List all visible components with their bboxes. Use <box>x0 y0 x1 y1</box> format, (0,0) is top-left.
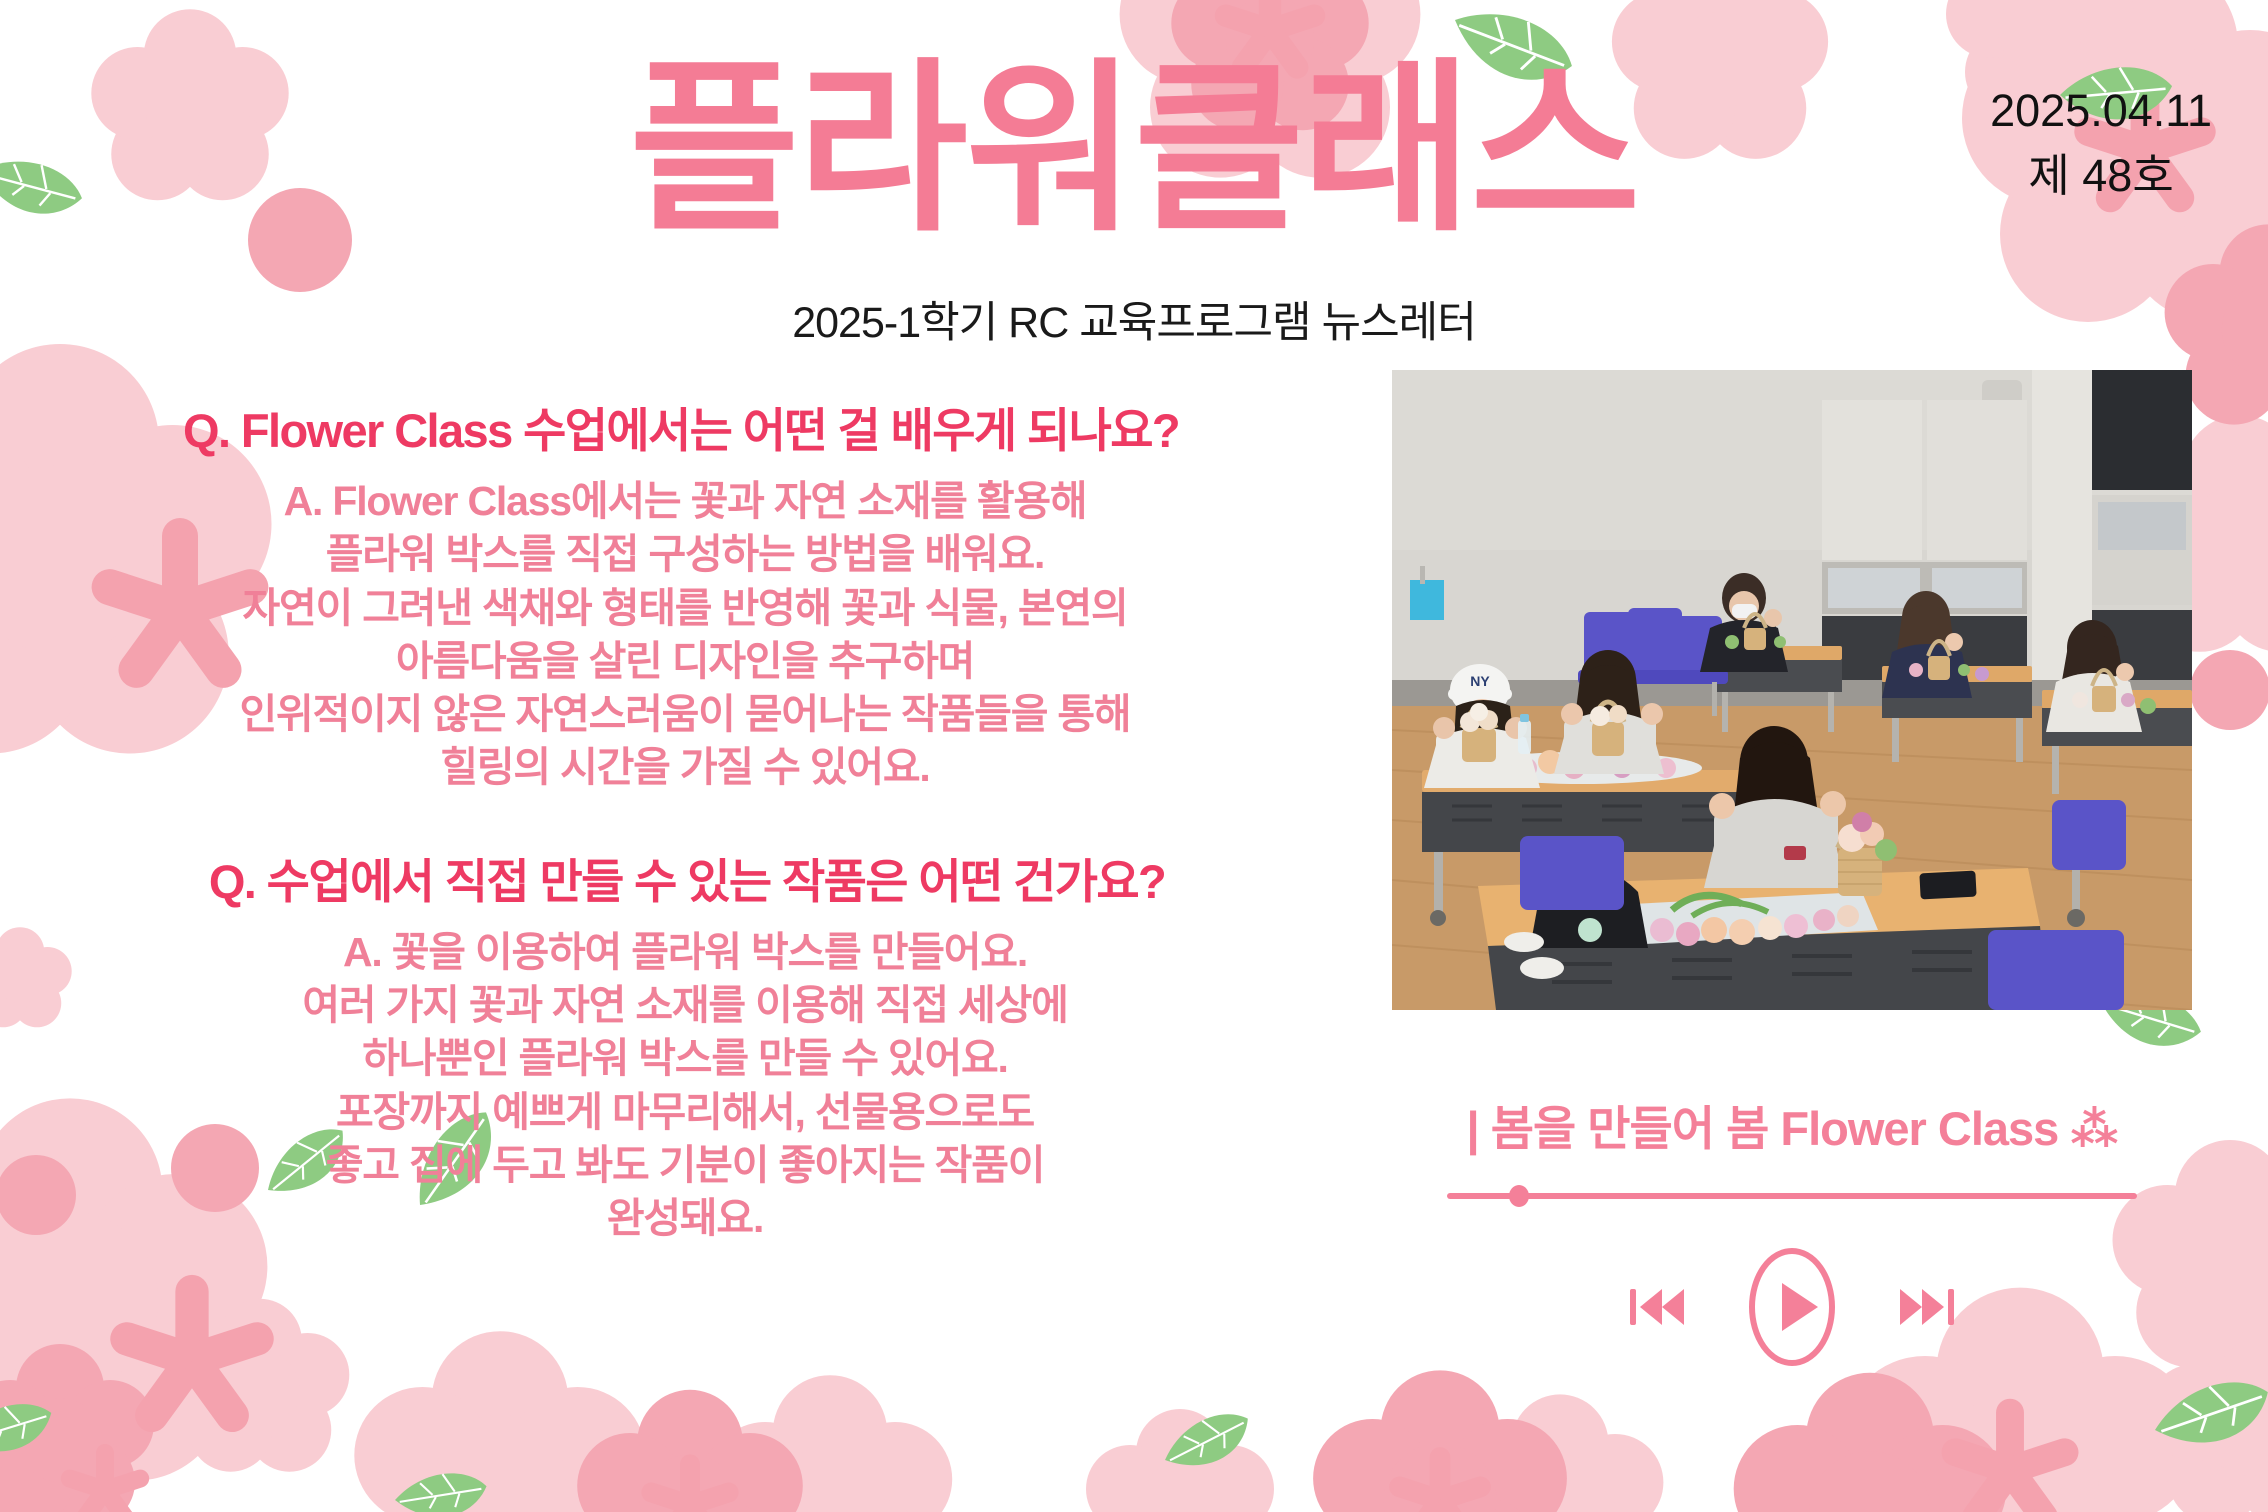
answer-2-line: 여러 가지 꽃과 자연 소재를 이용해 직접 세상에 <box>0 979 1370 1032</box>
answer-1: A. Flower Class에서는 꽃과 자연 소재를 활용해 플라워 박스를… <box>0 475 1370 795</box>
answer-2-line: 좋고 집에 두고 봐도 기분이 좋아지는 작품이 <box>0 1139 1370 1192</box>
page-subtitle: 2025-1학기 RC 교육프로그램 뉴스레터 <box>0 288 2268 350</box>
class-photo-illustration: NY <box>1392 370 2192 1010</box>
question-1: Q. Flower Class 수업에서는 어떤 걸 배우게 되나요? <box>0 392 1370 461</box>
answer-1-line: A. Flower Class에서는 꽃과 자연 소재를 활용해 <box>0 475 1370 528</box>
answer-2-line: 완성돼요. <box>0 1192 1370 1245</box>
qa-column: Q. Flower Class 수업에서는 어떤 걸 배우게 되나요? A. F… <box>0 392 1370 1246</box>
newsletter-poster: 플라워클래스 2025-1학기 RC 교육프로그램 뉴스레터 2025.04.1… <box>0 0 2268 1512</box>
section-gap <box>0 795 1370 843</box>
music-player: | 봄을 만들어 봄 Flower Class ⁂ <box>1392 1090 2192 1371</box>
issue-number: 제 48호 <box>1990 143 2212 208</box>
poster-header: 플라워클래스 2025-1학기 RC 교육프로그램 뉴스레터 2025.04.1… <box>0 0 2268 360</box>
answer-1-line: 힐링의 시간을 가질 수 있어요. <box>0 741 1370 794</box>
answer-1-line: 자연이 그려낸 색채와 형태를 반영해 꽃과 식물, 본연의 <box>0 582 1370 635</box>
play-icon[interactable] <box>1746 1243 1838 1371</box>
progress-knob[interactable] <box>1509 1185 1529 1207</box>
answer-2: A. 꽃을 이용하여 플라워 박스를 만들어요. 여러 가지 꽃과 자연 소재를… <box>0 926 1370 1246</box>
issue-info: 2025.04.11 제 48호 <box>1990 78 2212 209</box>
progress-track[interactable] <box>1447 1193 2137 1199</box>
skip-forward-icon[interactable] <box>1894 1279 1958 1335</box>
answer-1-line: 아름다움을 살린 디자인을 추구하며 <box>0 635 1370 688</box>
answer-2-line: 포장까지 예쁘게 마무리해서, 선물용으로도 <box>0 1086 1370 1139</box>
player-track-title: | 봄을 만들어 봄 Flower Class ⁂ <box>1392 1090 2192 1159</box>
issue-date: 2025.04.11 <box>1990 78 2212 143</box>
class-photo: NY <box>1392 370 2192 1010</box>
answer-2-line: A. 꽃을 이용하여 플라워 박스를 만들어요. <box>0 926 1370 979</box>
answer-1-line: 플라워 박스를 직접 구성하는 방법을 배워요. <box>0 528 1370 581</box>
answer-2-line: 하나뿐인 플라워 박스를 만들 수 있어요. <box>0 1032 1370 1085</box>
page-title: 플라워클래스 <box>0 58 2268 243</box>
player-controls <box>1392 1243 2192 1371</box>
svg-text:NY: NY <box>1470 673 1490 689</box>
skip-back-icon[interactable] <box>1626 1279 1690 1335</box>
question-2: Q. 수업에서 직접 만들 수 있는 작품은 어떤 건가요? <box>4 843 1370 912</box>
progress-bar[interactable] <box>1447 1187 2137 1205</box>
answer-1-line: 인위적이지 않은 자연스러움이 묻어나는 작품들을 통해 <box>0 688 1370 741</box>
